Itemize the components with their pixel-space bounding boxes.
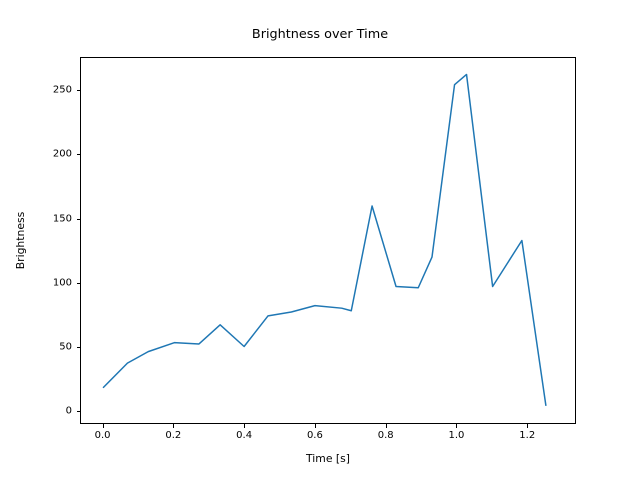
x-tick-mark <box>244 424 245 428</box>
y-tick-mark <box>77 347 81 348</box>
x-tick-mark <box>527 424 528 428</box>
x-tick-label: 0.8 <box>378 430 394 441</box>
x-axis-label: Time [s] <box>80 452 576 465</box>
plot-area <box>80 57 576 424</box>
y-tick-mark <box>77 219 81 220</box>
x-tick-mark <box>456 424 457 428</box>
y-tick-label: 150 <box>40 213 72 224</box>
x-tick-mark <box>103 424 104 428</box>
x-tick-label: 1.2 <box>519 430 535 441</box>
x-tick-label: 0.4 <box>236 430 252 441</box>
y-tick-mark <box>77 90 81 91</box>
y-tick-mark <box>77 411 81 412</box>
y-tick-label: 100 <box>40 277 72 288</box>
x-tick-mark <box>173 424 174 428</box>
x-tick-mark <box>386 424 387 428</box>
brightness-line <box>103 74 545 405</box>
y-tick-label: 200 <box>40 149 72 160</box>
chart-figure: Brightness over Time 050100150200250 0.0… <box>0 0 640 480</box>
y-tick-mark <box>77 283 81 284</box>
y-tick-label: 250 <box>40 85 72 96</box>
x-tick-mark <box>315 424 316 428</box>
x-tick-label: 1.0 <box>449 430 465 441</box>
y-tick-label: 0 <box>40 406 72 417</box>
y-tick-mark <box>77 154 81 155</box>
y-axis-label: Brightness <box>14 57 30 424</box>
y-tick-label: 50 <box>40 342 72 353</box>
x-tick-label: 0.6 <box>307 430 323 441</box>
x-tick-label: 0.0 <box>95 430 111 441</box>
line-series <box>81 58 575 423</box>
chart-title: Brightness over Time <box>0 27 640 42</box>
x-tick-label: 0.2 <box>165 430 181 441</box>
